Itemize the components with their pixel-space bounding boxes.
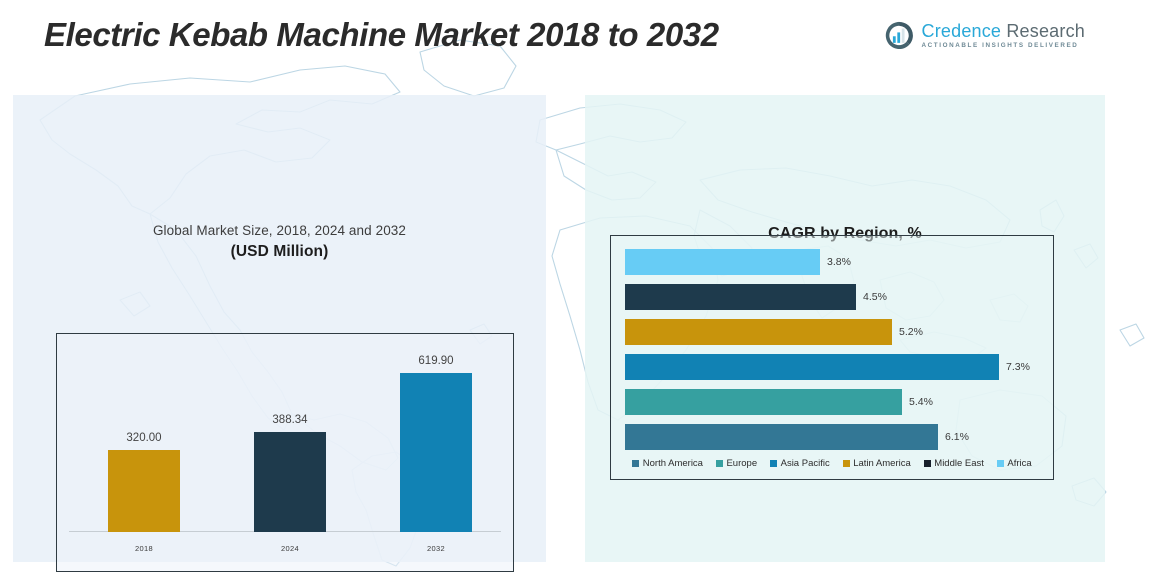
legend-label: Europe	[726, 458, 757, 469]
vertical-bar[interactable]	[254, 432, 326, 532]
bar-category-label: 2032	[366, 532, 506, 553]
bar-value-label: 4.5%	[856, 291, 887, 303]
horizontal-bar[interactable]	[625, 249, 820, 275]
legend-item[interactable]: Africa	[997, 458, 1032, 469]
vertical-bar-plot-area: 320.002018388.342024619.902032	[57, 334, 513, 571]
legend-swatch	[924, 460, 931, 467]
legend-label: Latin America	[853, 458, 911, 469]
horizontal-bar-chart: 3.8%4.5%5.2%7.3%5.4%6.1% North AmericaEu…	[610, 235, 1054, 480]
horizontal-bar-row: 3.8%	[625, 249, 1043, 275]
horizontal-bar-row: 5.2%	[625, 319, 1043, 345]
panel-cagr-by-region: CAGR by Region, % 3.8%4.5%5.2%7.3%5.4%6.…	[585, 95, 1105, 562]
logo-name-primary: Credence	[922, 21, 1002, 41]
bar-value-label: 5.4%	[902, 396, 933, 408]
horizontal-bar[interactable]	[625, 424, 938, 450]
horizontal-bar[interactable]	[625, 354, 999, 380]
legend-label: Asia Pacific	[781, 458, 830, 469]
bar-value-label: 320.00	[74, 432, 214, 444]
bar-value-label: 619.90	[366, 355, 506, 367]
legend-swatch	[716, 460, 723, 467]
infographic-root: Electric Kebab Machine Market 2018 to 20…	[0, 0, 1167, 576]
legend-item[interactable]: Middle East	[924, 458, 984, 469]
vertical-bar-group: 619.902032	[366, 352, 506, 532]
legend-item[interactable]: Asia Pacific	[770, 458, 830, 469]
chart-legend: North AmericaEuropeAsia PacificLatin Ame…	[611, 458, 1053, 469]
credence-bar-chart-circle-icon	[884, 20, 915, 51]
logo-tagline: Actionable Insights Delivered	[922, 42, 1086, 49]
logo-text: Credence Research Actionable Insights De…	[922, 22, 1086, 50]
legend-label: Middle East	[934, 458, 984, 469]
legend-swatch	[843, 460, 850, 467]
bar-value-label: 3.8%	[820, 256, 851, 268]
legend-label: North America	[643, 458, 703, 469]
bar-category-label: 2018	[74, 532, 214, 553]
horizontal-bar-row: 6.1%	[625, 424, 1043, 450]
vertical-bar[interactable]	[108, 450, 180, 532]
brand-logo[interactable]: Credence Research Actionable Insights De…	[884, 20, 1086, 51]
vertical-bar-group: 320.002018	[74, 352, 214, 532]
vertical-bar[interactable]	[400, 373, 472, 532]
legend-label: Africa	[1007, 458, 1031, 469]
bar-value-label: 7.3%	[999, 361, 1030, 373]
bar-value-label: 388.34	[220, 414, 360, 426]
page-title: Electric Kebab Machine Market 2018 to 20…	[44, 16, 719, 54]
vertical-bar-group: 388.342024	[220, 352, 360, 532]
logo-name-secondary: Research	[1001, 21, 1085, 41]
horizontal-bar[interactable]	[625, 319, 892, 345]
horizontal-bar[interactable]	[625, 284, 856, 310]
horizontal-bar-row: 5.4%	[625, 389, 1043, 415]
bar-value-label: 6.1%	[938, 431, 969, 443]
legend-item[interactable]: North America	[632, 458, 703, 469]
horizontal-bar-plot-area: 3.8%4.5%5.2%7.3%5.4%6.1%	[625, 249, 1043, 439]
legend-swatch	[997, 460, 1004, 467]
legend-item[interactable]: Latin America	[843, 458, 911, 469]
left-panel-subtitle: Global Market Size, 2018, 2024 and 2032	[13, 223, 546, 238]
logo-name: Credence Research	[922, 22, 1086, 41]
left-panel-title: (USD Million)	[13, 243, 546, 261]
legend-swatch	[632, 460, 639, 467]
legend-swatch	[770, 460, 777, 467]
horizontal-bar-row: 4.5%	[625, 284, 1043, 310]
panel-global-market-size: Global Market Size, 2018, 2024 and 2032 …	[13, 95, 546, 562]
vertical-bar-chart: 320.002018388.342024619.902032	[56, 333, 514, 572]
bar-value-label: 5.2%	[892, 326, 923, 338]
horizontal-bar[interactable]	[625, 389, 902, 415]
bar-category-label: 2024	[220, 532, 360, 553]
horizontal-bar-row: 7.3%	[625, 354, 1043, 380]
header: Electric Kebab Machine Market 2018 to 20…	[0, 0, 1167, 92]
legend-item[interactable]: Europe	[716, 458, 757, 469]
